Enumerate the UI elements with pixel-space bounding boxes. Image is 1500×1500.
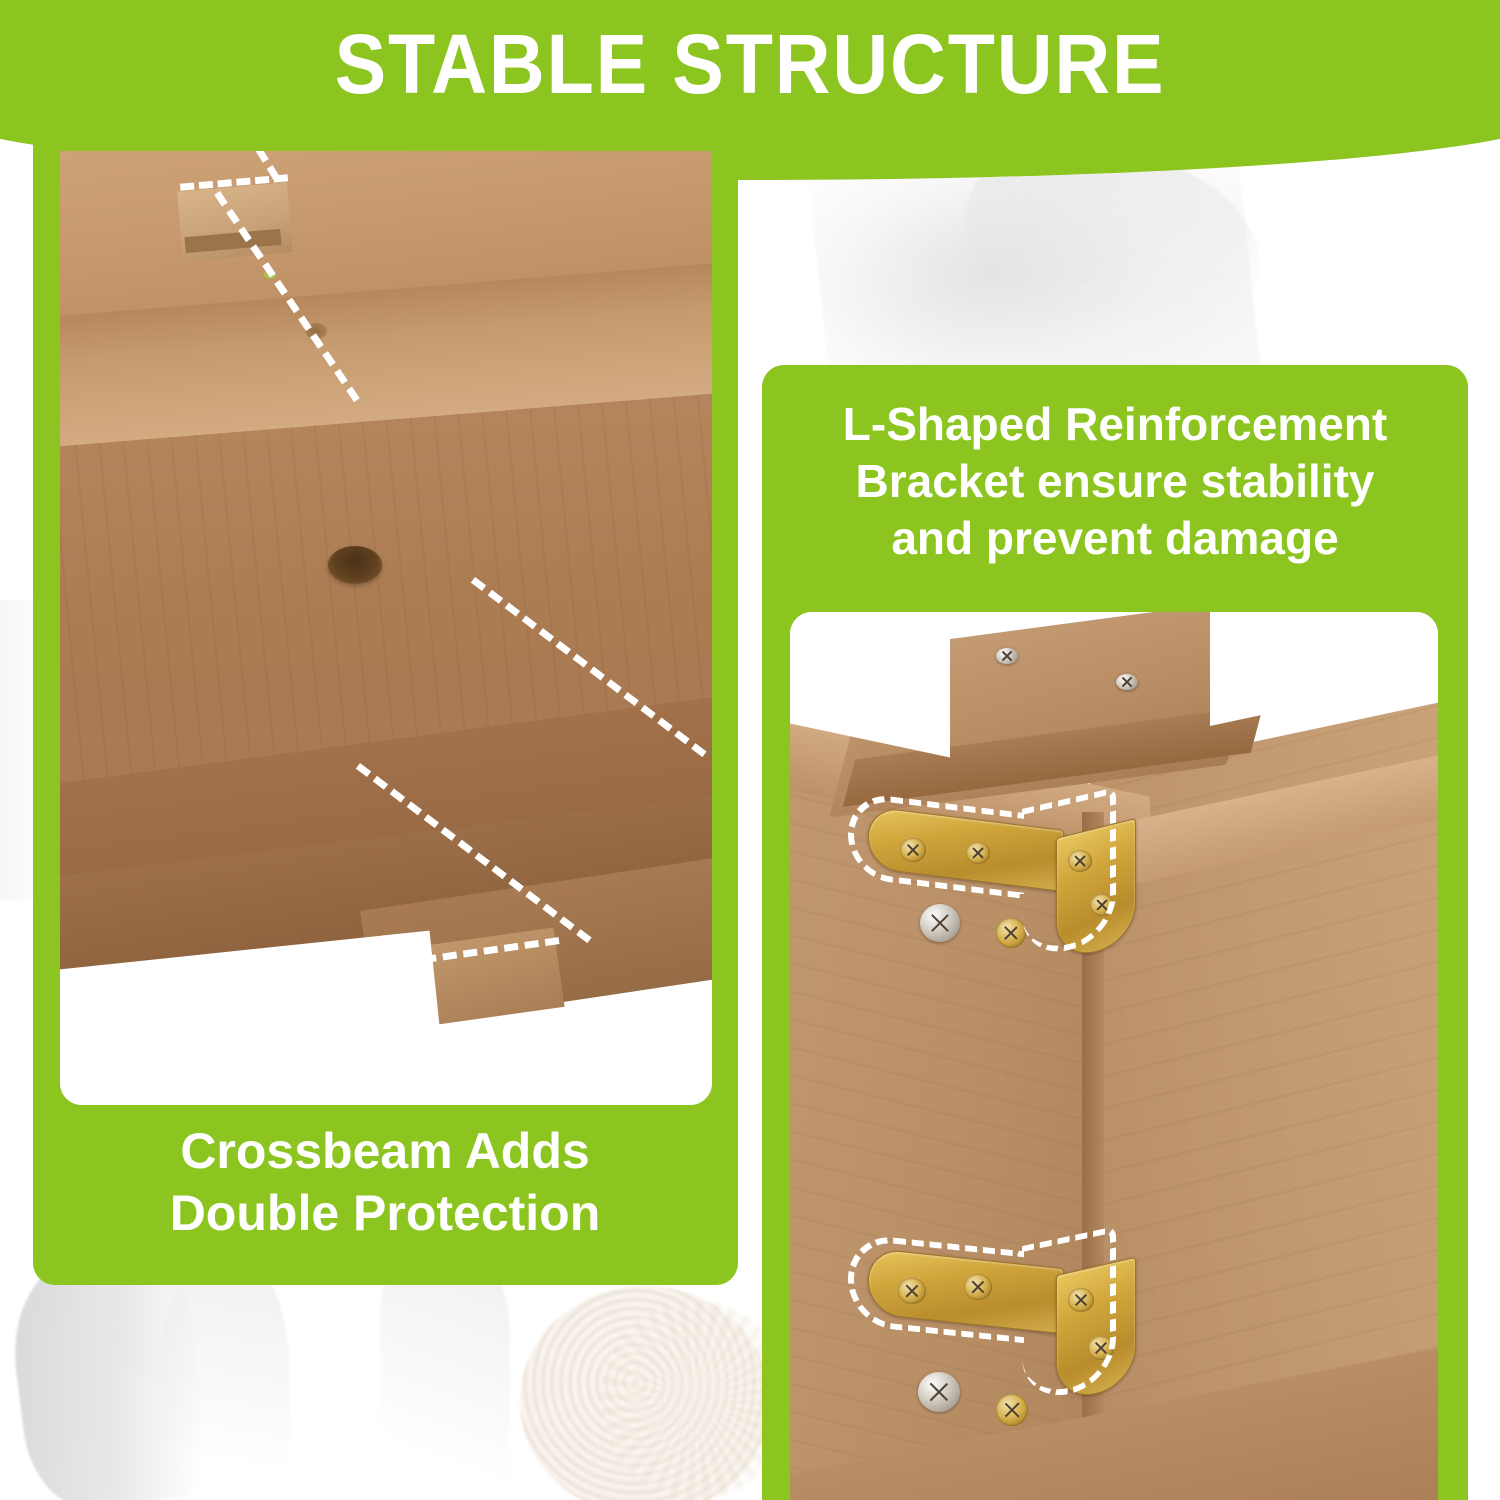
ghost-furniture-leg-c (380, 1250, 510, 1500)
infographic-page: STABLE STRUCTURE Crossbeam Adds Double P… (0, 0, 1500, 1500)
screw-icon (1116, 674, 1138, 690)
caption-line-1: L-Shaped Reinforcement (762, 396, 1468, 453)
drilled-hole (328, 546, 382, 584)
caption-line-1: Crossbeam Adds (40, 1120, 730, 1182)
caption-crossbeam: Crossbeam Adds Double Protection (40, 1120, 730, 1244)
caption-line-3: and prevent damage (762, 510, 1468, 567)
photo-crossbeam (60, 151, 712, 1105)
page-title: STABLE STRUCTURE (60, 18, 1440, 110)
screw-icon (996, 648, 1018, 664)
caption-line-2: Double Protection (40, 1182, 730, 1244)
photo-l-bracket (790, 612, 1438, 1500)
caption-line-2: Bracket ensure stability (762, 453, 1468, 510)
caption-bracket: L-Shaped Reinforcement Bracket ensure st… (762, 396, 1468, 567)
